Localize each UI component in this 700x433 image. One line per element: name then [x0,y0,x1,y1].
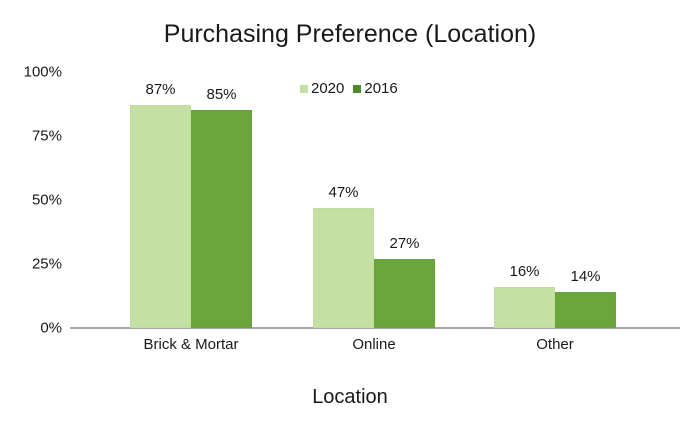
bar-online-2016[interactable]: 27% [374,259,435,328]
bar-brick-and-mortar-2016[interactable]: 85% [191,110,252,328]
bar-value-label: 14% [570,268,600,285]
bar-group-brick-and-mortar: 87% 85% [130,72,252,328]
y-axis: 100% 75% 50% 25% 0% [0,0,62,433]
y-tick-100: 100% [0,64,62,81]
chart-title: Purchasing Preference (Location) [0,20,700,49]
bar-value-label: 87% [145,81,175,98]
bar-rect [191,110,252,328]
y-tick-75: 75% [0,128,62,145]
y-tick-50: 50% [0,192,62,209]
plot-area: 87% 85% 47% 27% 16% [70,72,680,328]
bar-online-2020[interactable]: 47% [313,208,374,328]
bar-rect [130,105,191,328]
x-tick-label-other: Other [494,336,616,353]
bar-value-label: 85% [206,86,236,103]
bar-rect [494,287,555,328]
bar-value-label: 47% [328,184,358,201]
bar-value-label: 27% [389,235,419,252]
bar-group-other: 16% 14% [494,72,616,328]
bar-other-2020[interactable]: 16% [494,287,555,328]
y-tick-25: 25% [0,256,62,273]
x-axis-title: Location [0,386,700,409]
bar-rect [555,292,616,328]
y-tick-0: 0% [0,320,62,337]
bar-group-online: 47% 27% [313,72,435,328]
bar-other-2016[interactable]: 14% [555,292,616,328]
chart-container: Purchasing Preference (Location) 2020 20… [0,0,700,433]
x-tick-label-online: Online [313,336,435,353]
bar-brick-and-mortar-2020[interactable]: 87% [130,105,191,328]
bar-value-label: 16% [509,263,539,280]
bar-rect [374,259,435,328]
x-tick-label-brick-and-mortar: Brick & Mortar [130,336,252,353]
bar-rect [313,208,374,328]
